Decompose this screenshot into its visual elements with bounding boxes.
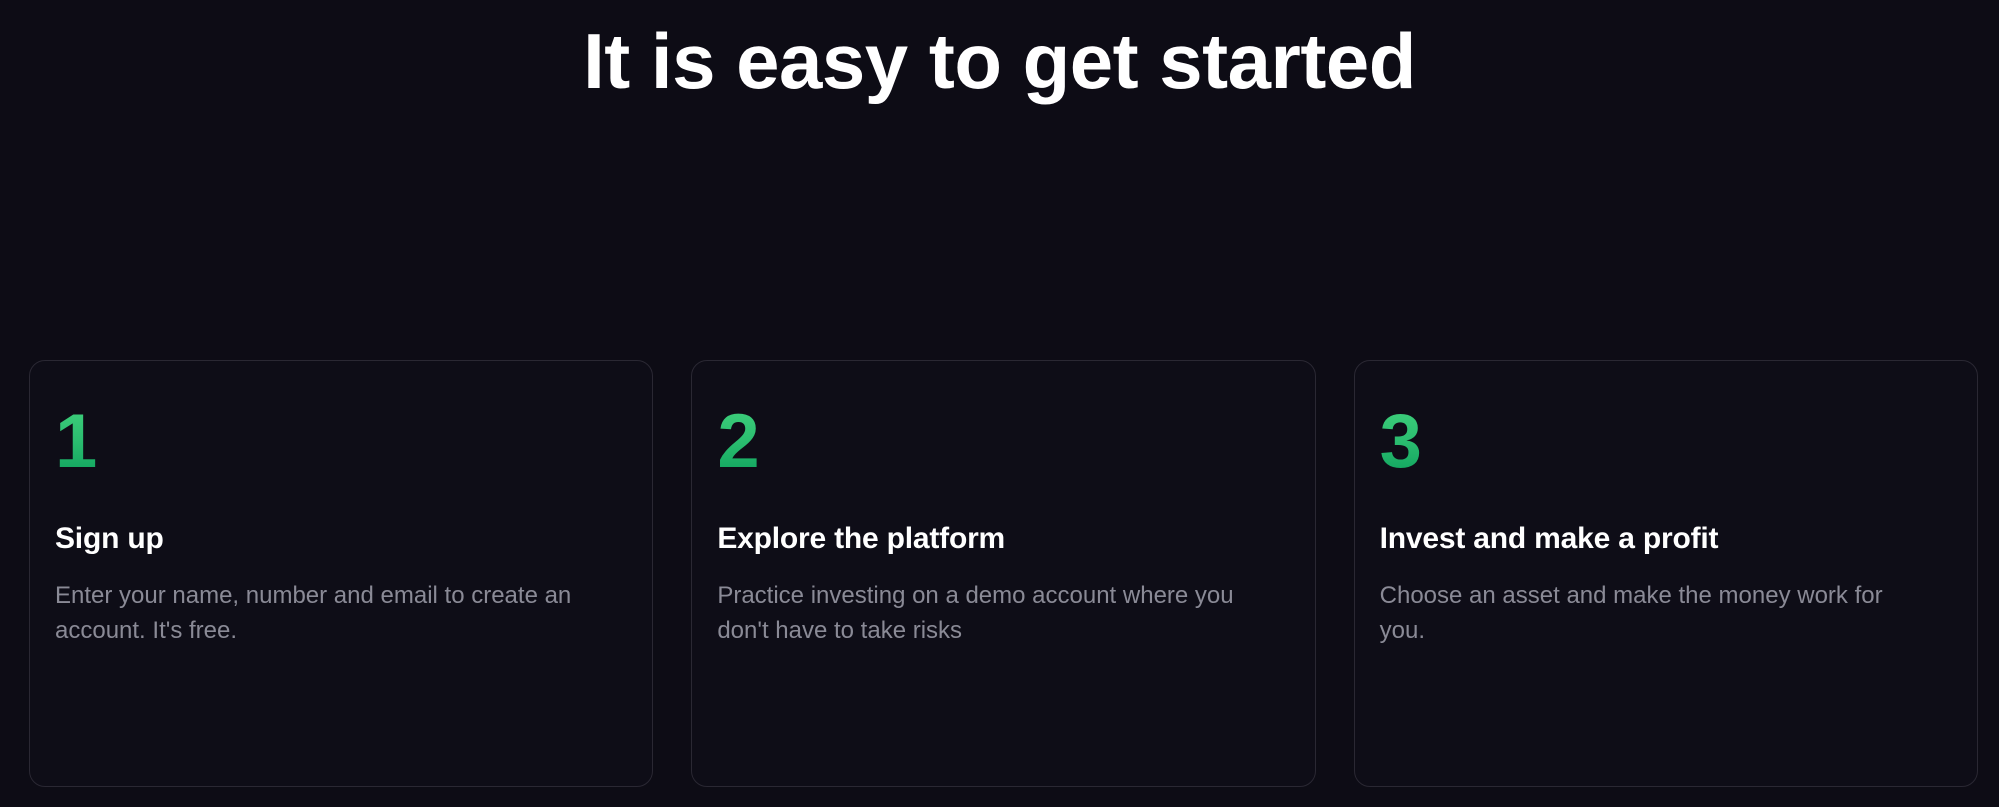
step-description: Practice investing on a demo account whe… bbox=[717, 578, 1237, 648]
step-number-badge: 3 bbox=[1380, 407, 1421, 477]
step-heading: Invest and make a profit bbox=[1380, 521, 1951, 556]
step-number-badge: 2 bbox=[717, 407, 758, 477]
step-card-1: 1 Sign up Enter your name, number and em… bbox=[29, 360, 653, 787]
step-number-badge: 1 bbox=[55, 407, 96, 477]
step-description: Enter your name, number and email to cre… bbox=[55, 578, 575, 648]
step-card-3: 3 Invest and make a profit Choose an ass… bbox=[1354, 360, 1978, 787]
steps-row: 1 Sign up Enter your name, number and em… bbox=[29, 360, 1978, 787]
step-heading: Sign up bbox=[55, 521, 626, 556]
step-heading: Explore the platform bbox=[717, 521, 1288, 556]
step-card-2: 2 Explore the platform Practice investin… bbox=[691, 360, 1315, 787]
landing-section: It is easy to get started 1 Sign up Ente… bbox=[0, 0, 1999, 807]
step-description: Choose an asset and make the money work … bbox=[1380, 578, 1900, 648]
page-title: It is easy to get started bbox=[0, 22, 1999, 100]
